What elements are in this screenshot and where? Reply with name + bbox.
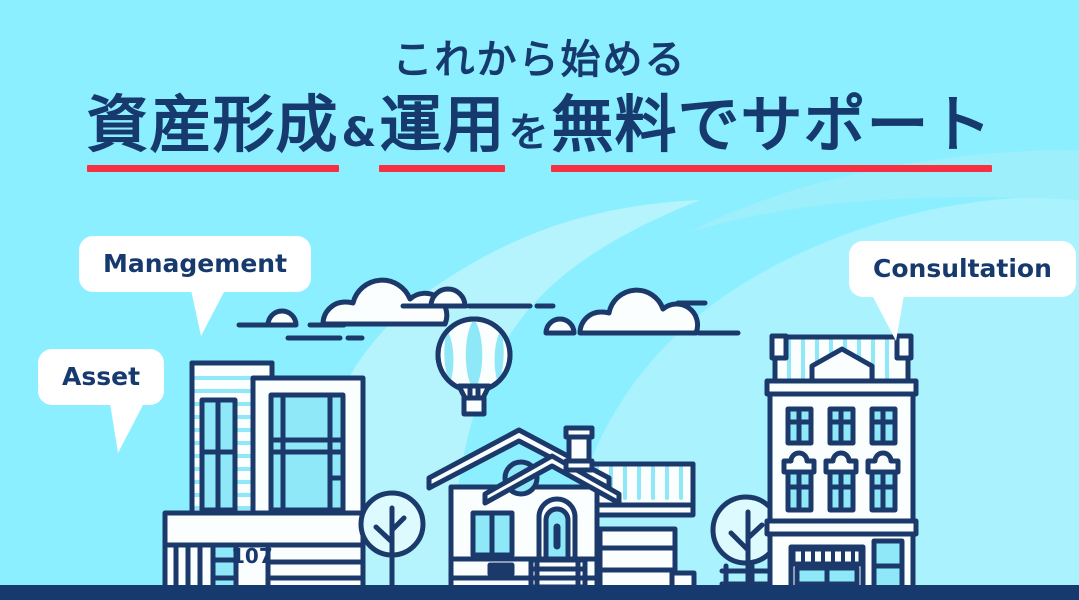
bubble-management: Management	[79, 236, 311, 292]
window-row-top	[788, 409, 895, 443]
illustration-scene: 107	[0, 0, 1079, 600]
bubble-asset-label: Asset	[62, 362, 140, 391]
window-row-middle	[784, 453, 898, 510]
bubble-asset-tail	[110, 403, 144, 453]
cloud-bump-lowleft	[268, 311, 296, 325]
bubble-management-label: Management	[103, 249, 287, 278]
bubble-asset: Asset	[38, 349, 164, 405]
bubble-management-tail	[191, 290, 225, 336]
bubble-consultation-label: Consultation	[873, 254, 1052, 283]
cloud-bump-right	[546, 319, 574, 333]
building-number-text: 107	[231, 544, 273, 568]
bubble-consultation-tail	[872, 295, 904, 341]
townhouse-shop	[767, 336, 916, 600]
bubble-consultation: Consultation	[849, 241, 1076, 297]
ground-line	[0, 585, 1079, 600]
cloud-small-mid	[431, 289, 465, 306]
hero-banner: 107	[0, 0, 1079, 600]
modern-office-building: 107	[165, 363, 363, 600]
